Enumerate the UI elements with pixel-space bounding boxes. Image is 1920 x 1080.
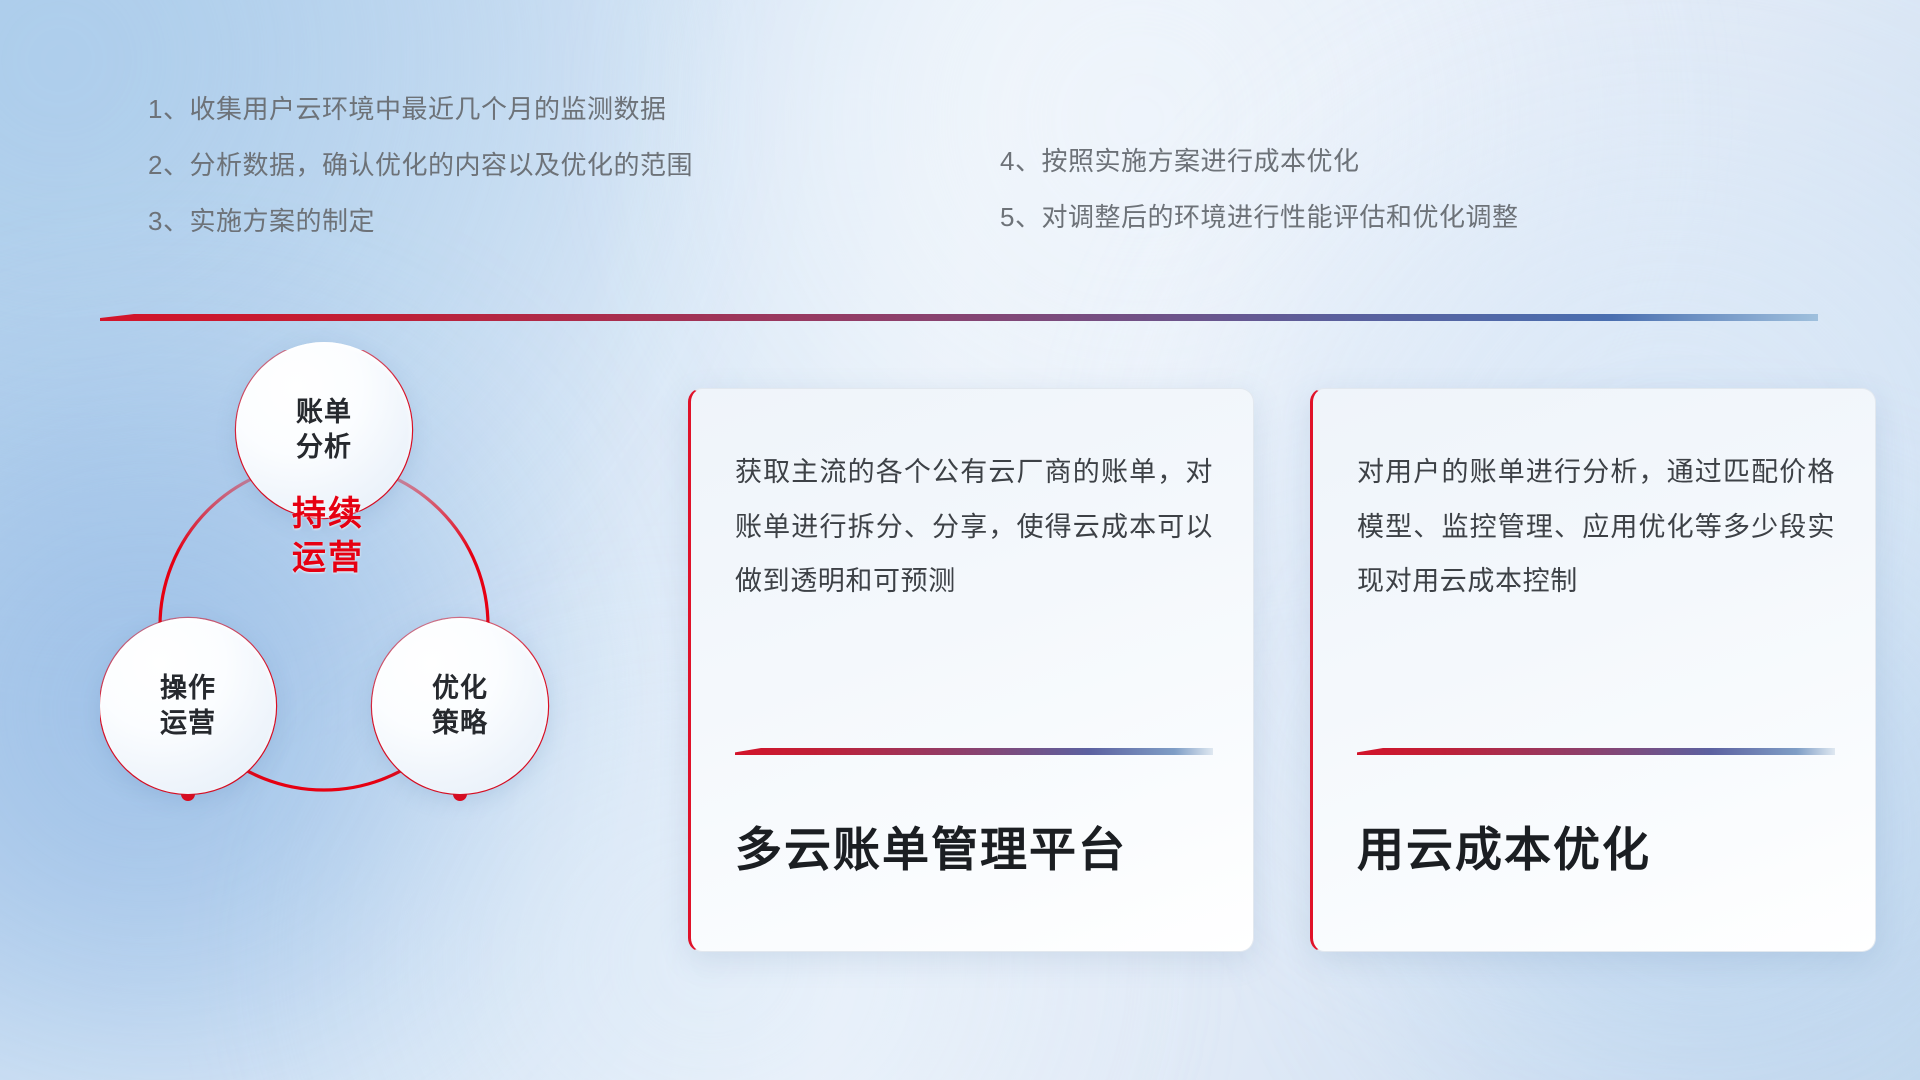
- slide-canvas: 1、收集用户云环境中最近几个月的监测数据 2、分析数据，确认优化的内容以及优化的…: [0, 0, 1920, 1080]
- card-body-text: 对用户的账单进行分析，通过匹配价格模型、监控管理、应用优化等多少段实现对用云成本…: [1357, 445, 1835, 609]
- continuous-operations-diagram: 账单 分析 操作 运营 优化 策略 持续 运营: [100, 350, 620, 950]
- bubble-label-line2: 策略: [432, 708, 488, 738]
- step-item-5: 5、对调整后的环境进行性能评估和优化调整: [1000, 204, 1760, 230]
- bubble-operations[interactable]: 操作 运营: [100, 618, 276, 794]
- bubble-label-line1: 优化: [432, 673, 488, 703]
- center-label-line1: 持续: [248, 492, 408, 536]
- step-item-3: 3、实施方案的制定: [148, 208, 888, 234]
- steps-list-left: 1、收集用户云环境中最近几个月的监测数据 2、分析数据，确认优化的内容以及优化的…: [148, 96, 888, 264]
- bubble-label-line1: 操作: [160, 673, 216, 703]
- bubble-operations-label: 操作 运营: [160, 671, 216, 740]
- step-item-4: 4、按照实施方案进行成本优化: [1000, 148, 1760, 174]
- card-divider-rule: [735, 748, 1213, 755]
- steps-list-right: 4、按照实施方案进行成本优化 5、对调整后的环境进行性能评估和优化调整: [1000, 148, 1760, 260]
- card-title: 用云成本优化: [1357, 826, 1651, 873]
- bubble-optimization-strategy[interactable]: 优化 策略: [372, 618, 548, 794]
- card-multi-cloud-bill-platform[interactable]: 获取主流的各个公有云厂商的账单，对账单进行拆分、分享，使得云成本可以做到透明和可…: [688, 388, 1254, 952]
- card-title: 多云账单管理平台: [735, 826, 1127, 873]
- card-cloud-cost-optimization[interactable]: 对用户的账单进行分析，通过匹配价格模型、监控管理、应用优化等多少段实现对用云成本…: [1310, 388, 1876, 952]
- bubble-bill-analysis-label: 账单 分析: [296, 395, 352, 464]
- center-label-line2: 运营: [248, 536, 408, 580]
- card-divider-rule: [1357, 748, 1835, 755]
- bubble-optimization-strategy-label: 优化 策略: [432, 671, 488, 740]
- step-item-2: 2、分析数据，确认优化的内容以及优化的范围: [148, 152, 888, 178]
- bubble-label-line2: 运营: [160, 708, 216, 738]
- diagram-center-label: 持续 运营: [248, 492, 408, 580]
- bubble-label-line2: 分析: [296, 432, 352, 462]
- header-divider-rule: [100, 314, 1818, 321]
- bubble-label-line1: 账单: [296, 397, 352, 427]
- card-body-text: 获取主流的各个公有云厂商的账单，对账单进行拆分、分享，使得云成本可以做到透明和可…: [735, 445, 1213, 609]
- step-item-1: 1、收集用户云环境中最近几个月的监测数据: [148, 96, 888, 122]
